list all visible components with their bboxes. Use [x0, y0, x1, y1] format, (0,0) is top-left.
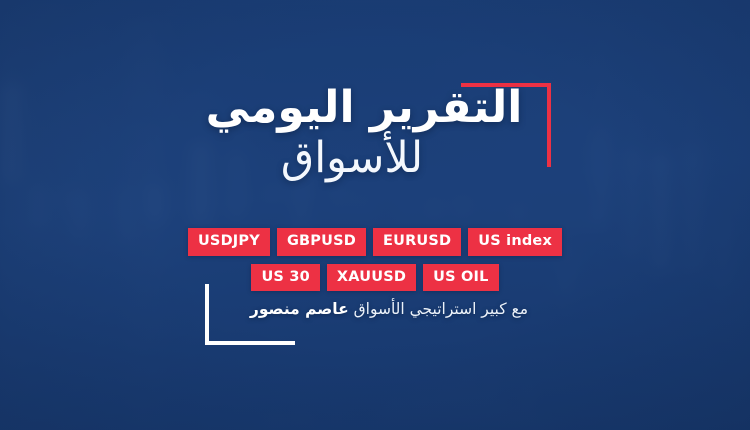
banner-content: التقرير اليومي للأسواق USDJPYGBPUSDEURUS… [0, 0, 750, 430]
headline: التقرير اليومي للأسواق [0, 86, 750, 182]
instrument-tag[interactable]: XAUUSD [327, 264, 416, 292]
byline: مع كبير استراتيجي الأسواق عاصم منصور [0, 299, 750, 318]
instrument-tag[interactable]: EURUSD [373, 228, 461, 256]
byline-line: مع كبير استراتيجي الأسواق عاصم منصور [250, 300, 528, 318]
instrument-tag-row-2: US 30XAUUSDUS OIL [0, 264, 750, 292]
instrument-tag-row-1: USDJPYGBPUSDEURUSDUS index [0, 228, 750, 256]
instrument-tag[interactable]: GBPUSD [277, 228, 366, 256]
instrument-tag[interactable]: US OIL [423, 264, 498, 292]
headline-line-1: التقرير اليومي [0, 86, 750, 131]
headline-line-2: للأسواق [0, 135, 750, 182]
byline-analyst-name: عاصم منصور [250, 300, 349, 318]
daily-report-banner: التقرير اليومي للأسواق USDJPYGBPUSDEURUS… [0, 0, 750, 430]
instrument-tag[interactable]: USDJPY [188, 228, 270, 256]
white-bracket-bottom-arm [205, 341, 295, 345]
instrument-tag[interactable]: US index [468, 228, 562, 256]
instrument-tag-group: USDJPYGBPUSDEURUSDUS index US 30XAUUSDUS… [0, 228, 750, 291]
byline-prefix: مع كبير استراتيجي الأسواق [354, 300, 528, 318]
instrument-tag[interactable]: US 30 [251, 264, 319, 292]
